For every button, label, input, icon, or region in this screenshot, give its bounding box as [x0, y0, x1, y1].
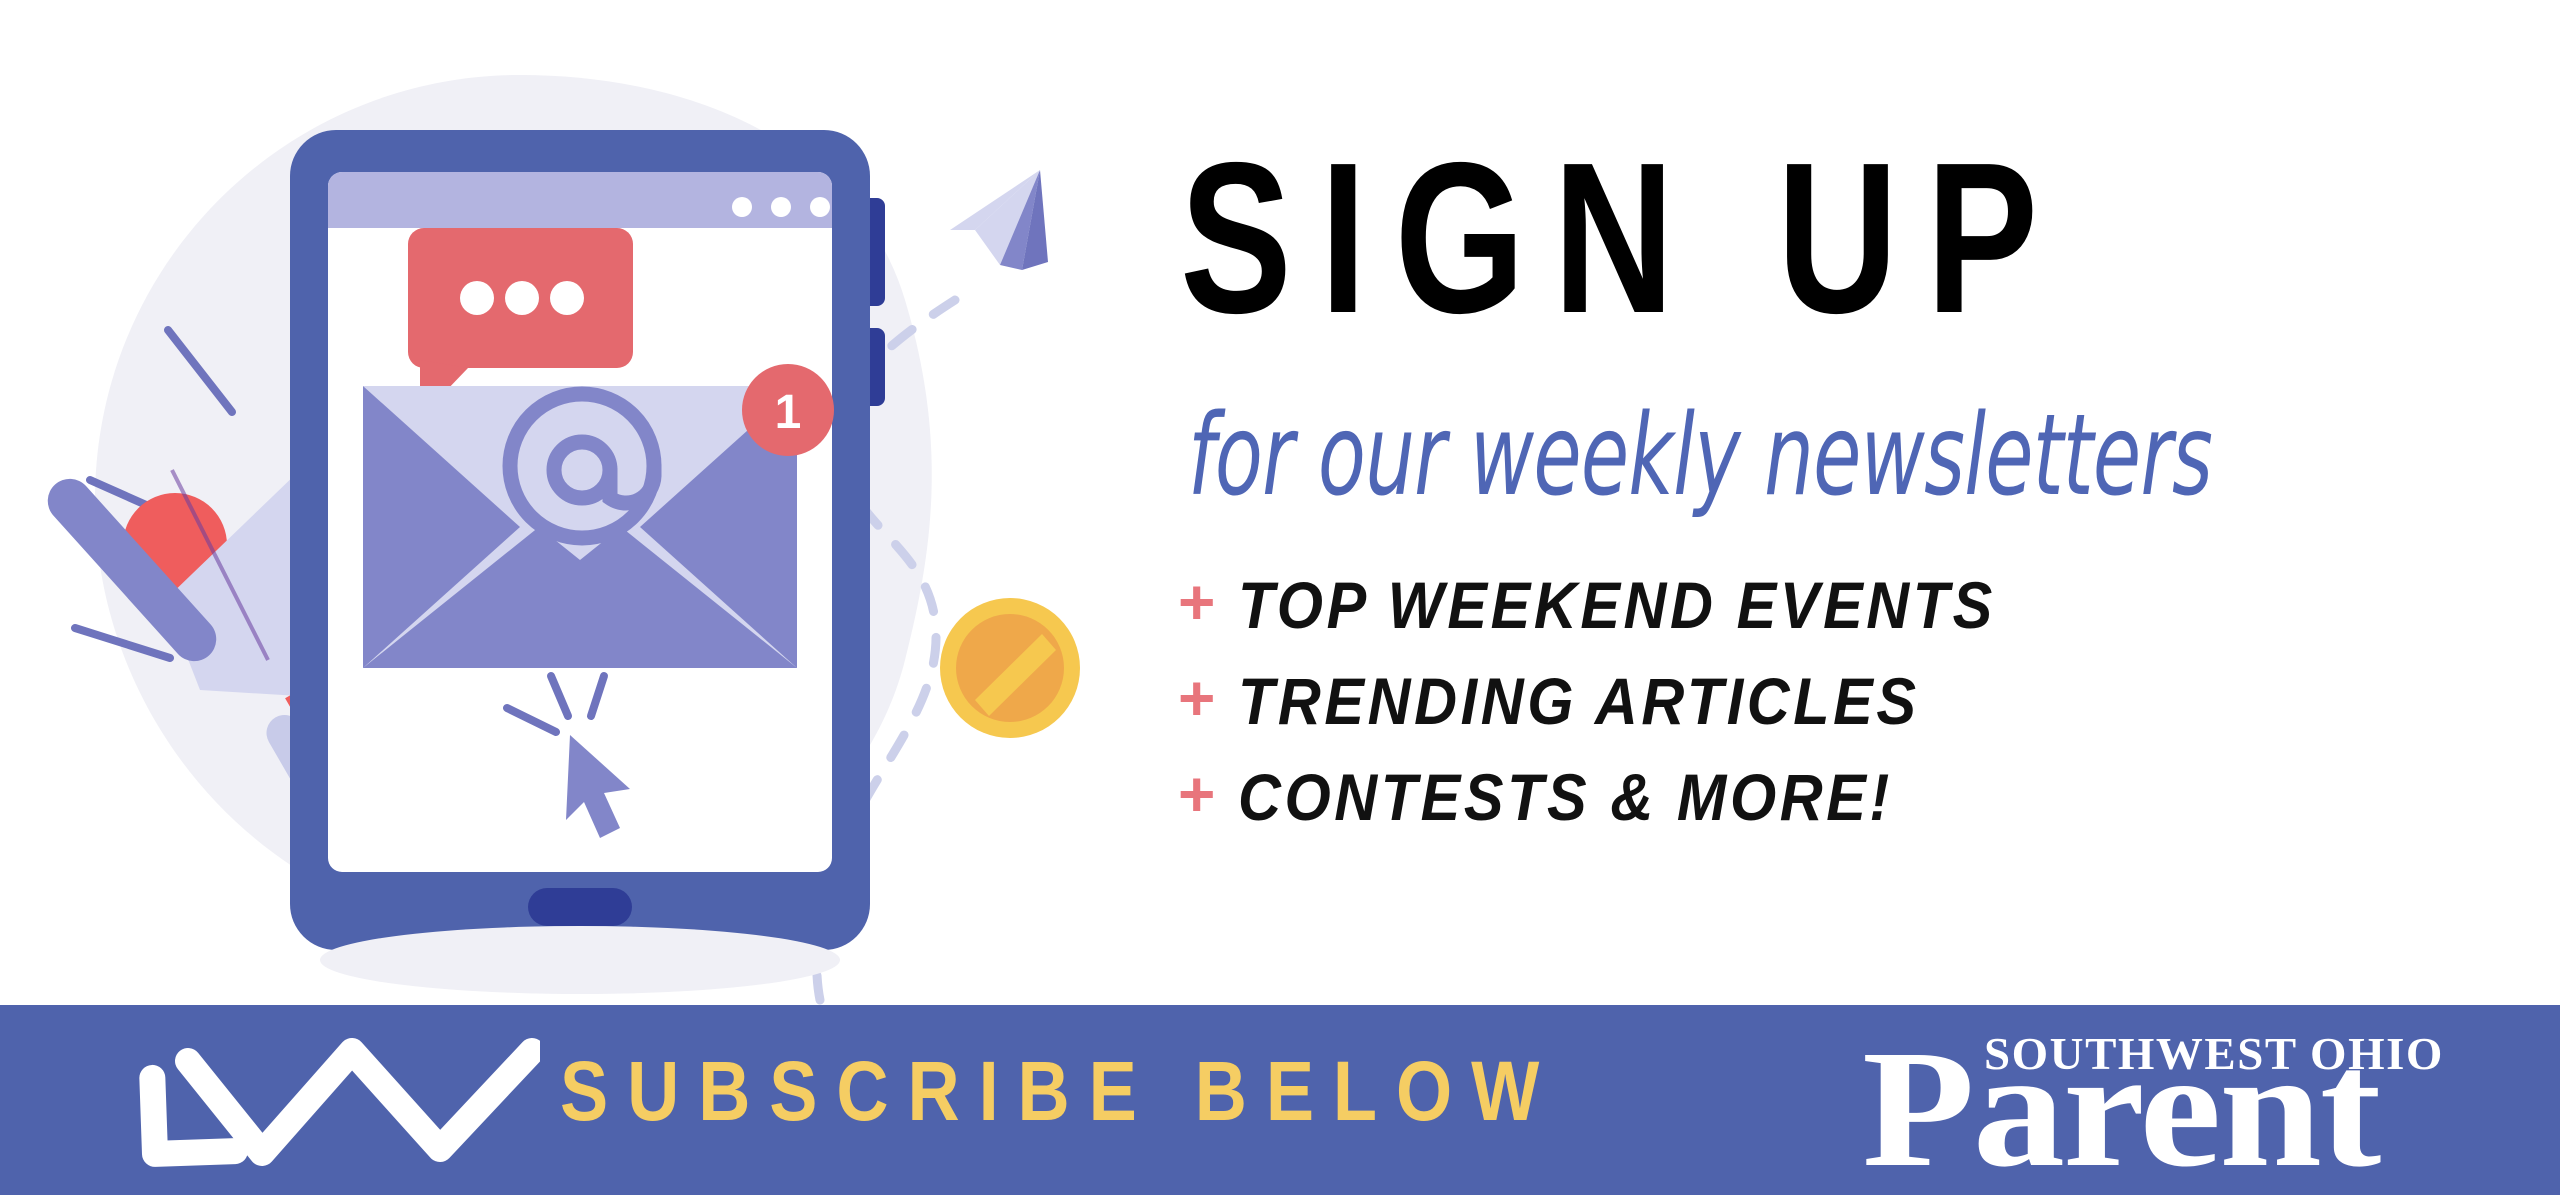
chat-bubble-dots: [460, 281, 584, 315]
subscribe-bar: SUBSCRIBE BELOW Parent SOUTHWEST OHIO: [0, 1005, 2560, 1195]
titlebar-dots: [732, 197, 830, 217]
page-title: SIGN UP: [1180, 130, 2066, 345]
benefits-list: + TOP WEEKEND EVENTS + TRENDING ARTICLES…: [1178, 570, 2080, 832]
zigzag-down-left-arrow-icon: [130, 1029, 540, 1179]
hero-copy: SIGN UP for our weekly newsletters + TOP…: [1160, 30, 2560, 950]
envelope-icon: [363, 386, 797, 668]
tablet-shadow: [320, 926, 840, 994]
list-item: + TRENDING ARTICLES: [1178, 666, 2080, 736]
newsletter-signup-banner: 1 SIGN UP for our weekly: [0, 0, 2560, 1195]
tablet-titlebar: [328, 172, 832, 228]
benefit-label: TOP WEEKEND EVENTS: [1238, 572, 1996, 638]
plus-icon: +: [1178, 666, 1238, 730]
notification-count: 1: [775, 386, 802, 439]
plus-icon: +: [1178, 570, 1238, 634]
paper-plane-icon: [950, 170, 1048, 270]
tablet-device: 1: [290, 130, 885, 950]
page-subtitle: for our weekly newsletters: [1188, 400, 2212, 512]
tablet-home-button: [528, 888, 632, 926]
logo-kicker: SOUTHWEST OHIO: [1984, 1031, 2444, 1077]
notification-badge: 1: [742, 364, 834, 456]
list-item: + CONTESTS & MORE!: [1178, 762, 2080, 832]
benefit-label: CONTESTS & MORE!: [1238, 764, 1893, 830]
brand-logo: Parent SOUTHWEST OHIO: [1862, 1019, 2502, 1189]
list-item: + TOP WEEKEND EVENTS: [1178, 570, 2080, 640]
coin-icon: [940, 598, 1080, 738]
plus-icon: +: [1178, 762, 1238, 826]
newsletter-illustration: 1: [0, 0, 1160, 1005]
subscribe-cta-text: SUBSCRIBE BELOW: [560, 1049, 1558, 1133]
benefit-label: TRENDING ARTICLES: [1238, 668, 1920, 734]
